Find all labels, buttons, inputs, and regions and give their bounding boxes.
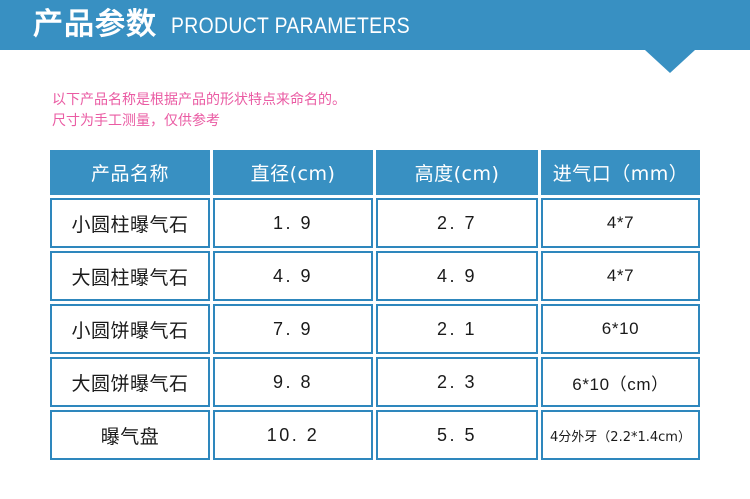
note-line-1: 以下产品名称是根据产品的形状特点来命名的。	[52, 90, 346, 111]
product-parameters-table: 产品名称 直径(cm) 高度(cm) 进气口（mm） 小圆柱曝气石 1. 9 2…	[47, 147, 703, 463]
cell-height: 2. 3	[376, 357, 538, 407]
cell-diameter: 10. 2	[213, 410, 373, 460]
column-header-product-name: 产品名称	[50, 150, 210, 195]
cell-air-inlet: 4*7	[541, 198, 700, 248]
table-row: 大圆柱曝气石 4. 9 4. 9 4*7	[50, 251, 700, 301]
product-naming-note: 以下产品名称是根据产品的形状特点来命名的。 尺寸为手工测量，仅供参考	[52, 90, 346, 132]
cell-product-name: 大圆饼曝气石	[50, 357, 210, 407]
page-header-banner: 产品参数 PRODUCT PARAMETERS	[0, 0, 750, 50]
cell-product-name: 大圆柱曝气石	[50, 251, 210, 301]
table-header-row: 产品名称 直径(cm) 高度(cm) 进气口（mm）	[50, 150, 700, 195]
cell-air-inlet: 6*10	[541, 304, 700, 354]
cell-height: 5. 5	[376, 410, 538, 460]
table-row: 小圆柱曝气石 1. 9 2. 7 4*7	[50, 198, 700, 248]
column-header-diameter: 直径(cm)	[213, 150, 373, 195]
cell-diameter: 7. 9	[213, 304, 373, 354]
cell-product-name: 曝气盘	[50, 410, 210, 460]
cell-diameter: 1. 9	[213, 198, 373, 248]
page-title-chinese: 产品参数	[33, 10, 157, 40]
chevron-down-triangle-icon	[645, 50, 695, 73]
cell-air-inlet: 4*7	[541, 251, 700, 301]
cell-product-name: 小圆柱曝气石	[50, 198, 210, 248]
cell-air-inlet: 6*10（cm）	[541, 357, 700, 407]
note-line-2: 尺寸为手工测量，仅供参考	[52, 111, 346, 132]
cell-product-name: 小圆饼曝气石	[50, 304, 210, 354]
column-header-air-inlet: 进气口（mm）	[541, 150, 700, 195]
table-row: 小圆饼曝气石 7. 9 2. 1 6*10	[50, 304, 700, 354]
cell-air-inlet: 4分外牙（2.2*1.4cm）	[541, 410, 700, 460]
banner-title-group: 产品参数 PRODUCT PARAMETERS	[33, 0, 443, 50]
cell-diameter: 9. 8	[213, 357, 373, 407]
page-title-english: PRODUCT PARAMETERS	[171, 15, 410, 37]
cell-height: 2. 1	[376, 304, 538, 354]
cell-height: 2. 7	[376, 198, 538, 248]
table-row: 曝气盘 10. 2 5. 5 4分外牙（2.2*1.4cm）	[50, 410, 700, 460]
cell-diameter: 4. 9	[213, 251, 373, 301]
table-row: 大圆饼曝气石 9. 8 2. 3 6*10（cm）	[50, 357, 700, 407]
column-header-height: 高度(cm)	[376, 150, 538, 195]
cell-height: 4. 9	[376, 251, 538, 301]
